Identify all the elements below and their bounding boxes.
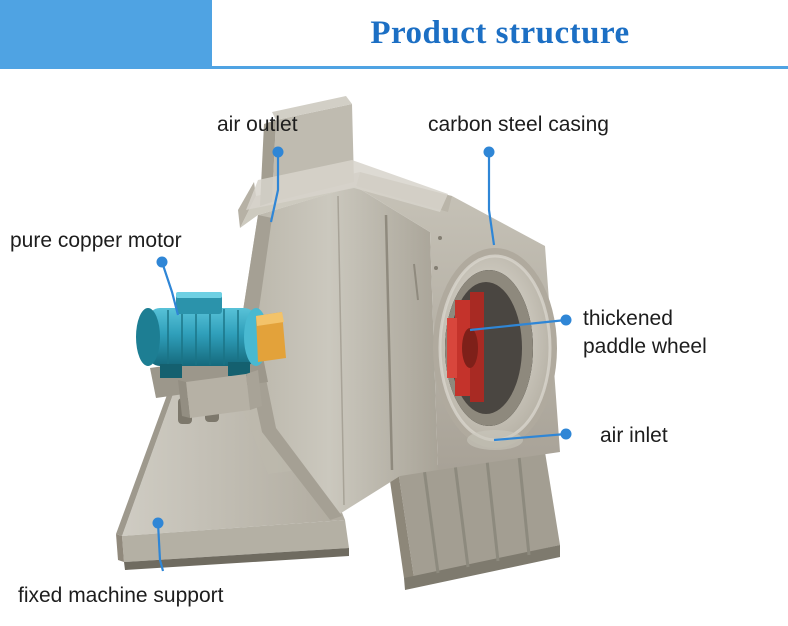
product-structure-diagram: Product structure xyxy=(0,0,788,626)
callout-label-pure-copper-motor: pure copper motor xyxy=(10,228,182,253)
callout-label-air-outlet: air outlet xyxy=(217,112,298,137)
callout-label-fixed-machine-support: fixed machine support xyxy=(18,583,223,608)
callout-label-thickened-paddle-wheel: thickened paddle wheel xyxy=(583,305,707,361)
callout-label-air-inlet: air inlet xyxy=(600,423,668,448)
callout-label-carbon-steel-casing: carbon steel casing xyxy=(428,112,609,137)
